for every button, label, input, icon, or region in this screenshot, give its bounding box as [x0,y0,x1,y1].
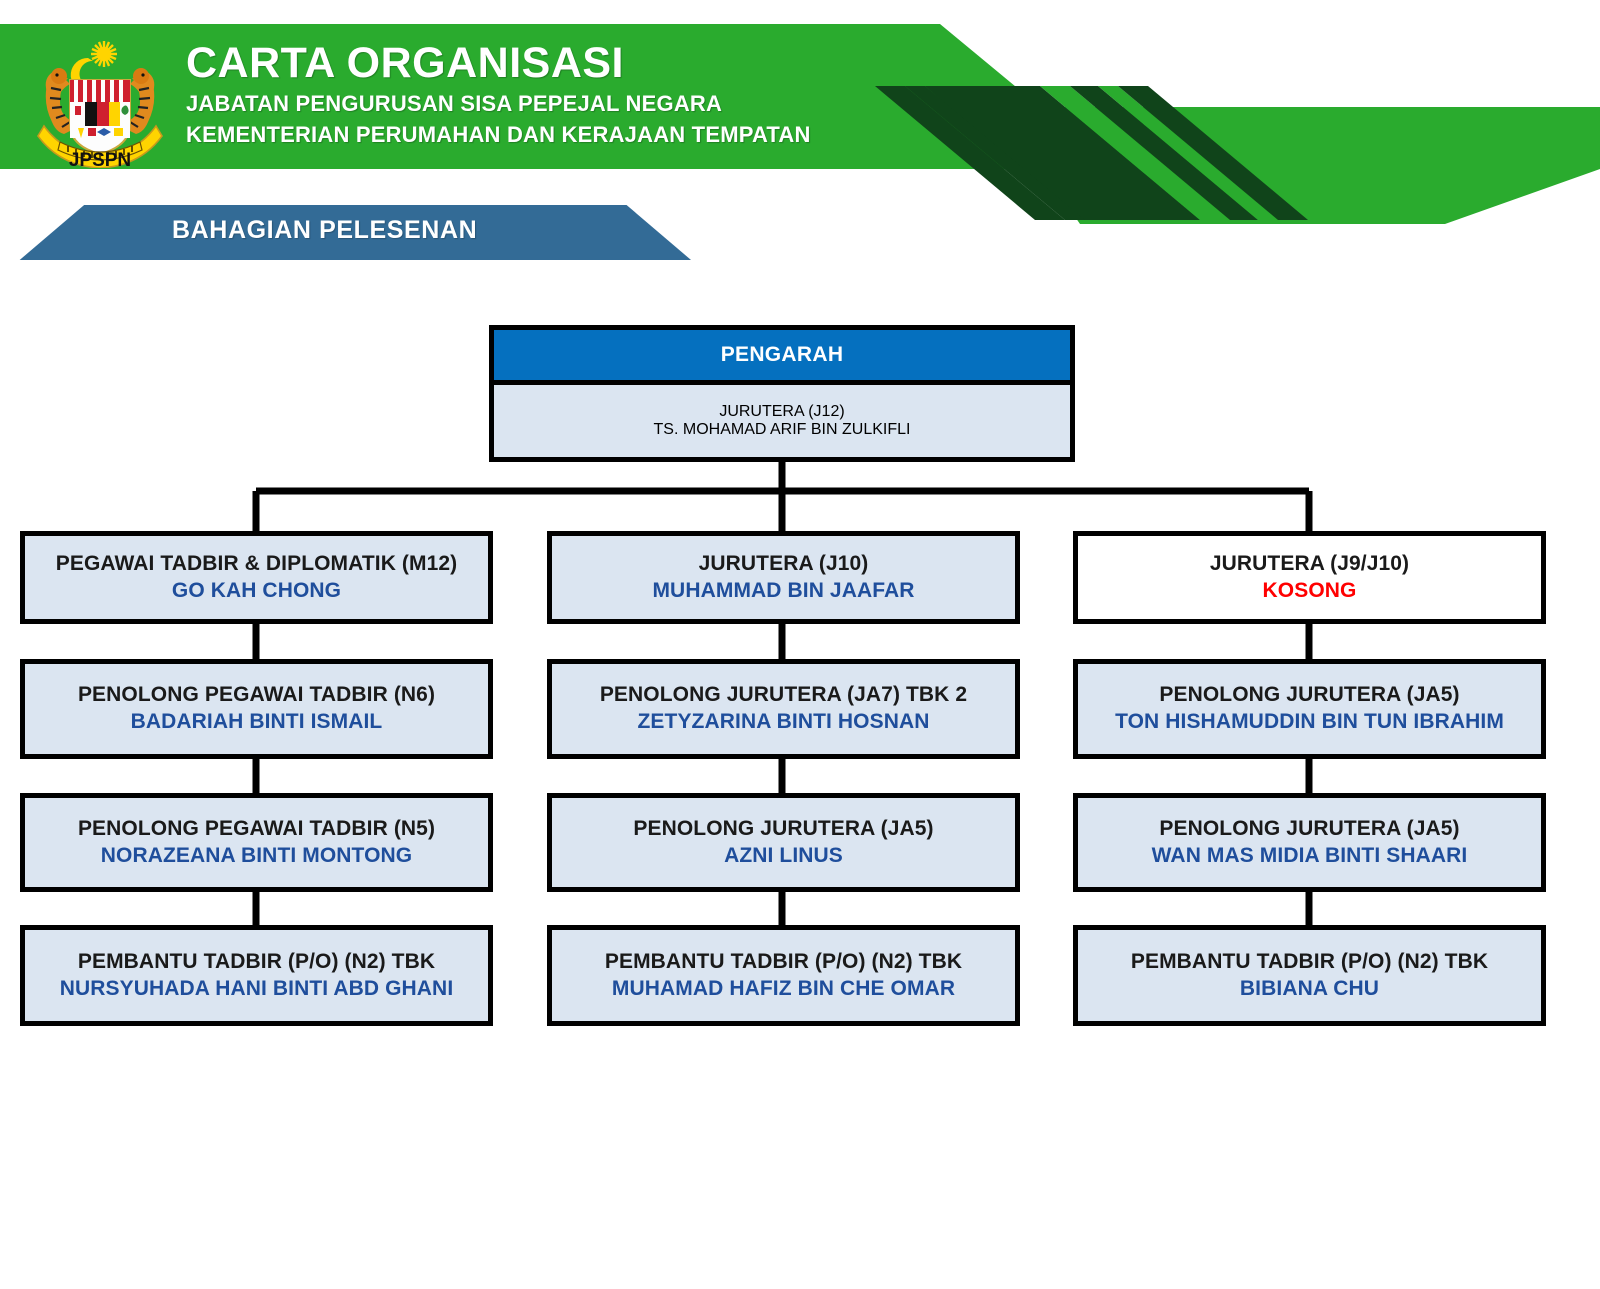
node-person: NURSYUHADA HANI BINTI ABD GHANI [60,975,454,1003]
node-col3-row3[interactable]: PENOLONG JURUTERA (JA5) WAN MAS MIDIA BI… [1073,793,1546,892]
node-col1-row3[interactable]: PENOLONG PEGAWAI TADBIR (N5) NORAZEANA B… [20,793,493,892]
node-col3-row4[interactable]: PEMBANTU TADBIR (P/O) (N2) TBK BIBIANA C… [1073,925,1546,1026]
node-title: PENOLONG PEGAWAI TADBIR (N5) [78,816,435,842]
node-col3-row1[interactable]: JURUTERA (J9/J10) KOSONG [1073,531,1546,624]
node-col1-row2[interactable]: PENOLONG PEGAWAI TADBIR (N6) BADARIAH BI… [20,659,493,759]
node-person: TS. MOHAMAD ARIF BIN ZULKIFLI [654,421,911,439]
node-title: PEMBANTU TADBIR (P/O) (N2) TBK [605,949,962,975]
node-person: WAN MAS MIDIA BINTI SHAARI [1152,842,1468,870]
node-title: PEMBANTU TADBIR (P/O) (N2) TBK [78,949,435,975]
node-person: MUHAMAD HAFIZ BIN CHE OMAR [612,975,955,1003]
node-person: AZNI LINUS [724,842,843,870]
node-person: MUHAMMAD BIN JAAFAR [652,577,914,605]
node-pengarah[interactable]: PENGARAH JURUTERA (J12) TS. MOHAMAD ARIF… [489,325,1075,462]
node-title: JURUTERA (J12) [719,403,844,421]
node-title: JURUTERA (J10) [699,551,869,577]
connector-lines [0,0,1600,1060]
node-col1-row4[interactable]: PEMBANTU TADBIR (P/O) (N2) TBK NURSYUHAD… [20,925,493,1026]
node-person: ZETYZARINA BINTI HOSNAN [637,708,929,736]
node-pengarah-header: PENGARAH [494,330,1070,385]
node-person: GO KAH CHONG [172,577,341,605]
node-title: PEMBANTU TADBIR (P/O) (N2) TBK [1131,949,1488,975]
node-col2-row1[interactable]: JURUTERA (J10) MUHAMMAD BIN JAAFAR [547,531,1020,624]
node-person: BIBIANA CHU [1240,975,1379,1003]
node-title: PENOLONG PEGAWAI TADBIR (N6) [78,682,435,708]
node-title: PENOLONG JURUTERA (JA7) TBK 2 [600,682,967,708]
node-title: PENOLONG JURUTERA (JA5) [1159,816,1459,842]
node-title: PEGAWAI TADBIR & DIPLOMATIK (M12) [56,551,458,577]
node-col2-row4[interactable]: PEMBANTU TADBIR (P/O) (N2) TBK MUHAMAD H… [547,925,1020,1026]
node-person: BADARIAH BINTI ISMAIL [131,708,383,736]
org-chart: PENGARAH JURUTERA (J12) TS. MOHAMAD ARIF… [0,0,1600,1289]
node-pengarah-body: JURUTERA (J12) TS. MOHAMAD ARIF BIN ZULK… [494,385,1070,457]
node-person-vacant: KOSONG [1263,577,1357,605]
node-title: PENOLONG JURUTERA (JA5) [1159,682,1459,708]
node-person: TON HISHAMUDDIN BIN TUN IBRAHIM [1115,708,1504,736]
node-col2-row3[interactable]: PENOLONG JURUTERA (JA5) AZNI LINUS [547,793,1020,892]
node-person: NORAZEANA BINTI MONTONG [101,842,412,870]
node-title: JURUTERA (J9/J10) [1210,551,1409,577]
node-col1-row1[interactable]: PEGAWAI TADBIR & DIPLOMATIK (M12) GO KAH… [20,531,493,624]
node-title: PENOLONG JURUTERA (JA5) [633,816,933,842]
node-col3-row2[interactable]: PENOLONG JURUTERA (JA5) TON HISHAMUDDIN … [1073,659,1546,759]
node-col2-row2[interactable]: PENOLONG JURUTERA (JA7) TBK 2 ZETYZARINA… [547,659,1020,759]
